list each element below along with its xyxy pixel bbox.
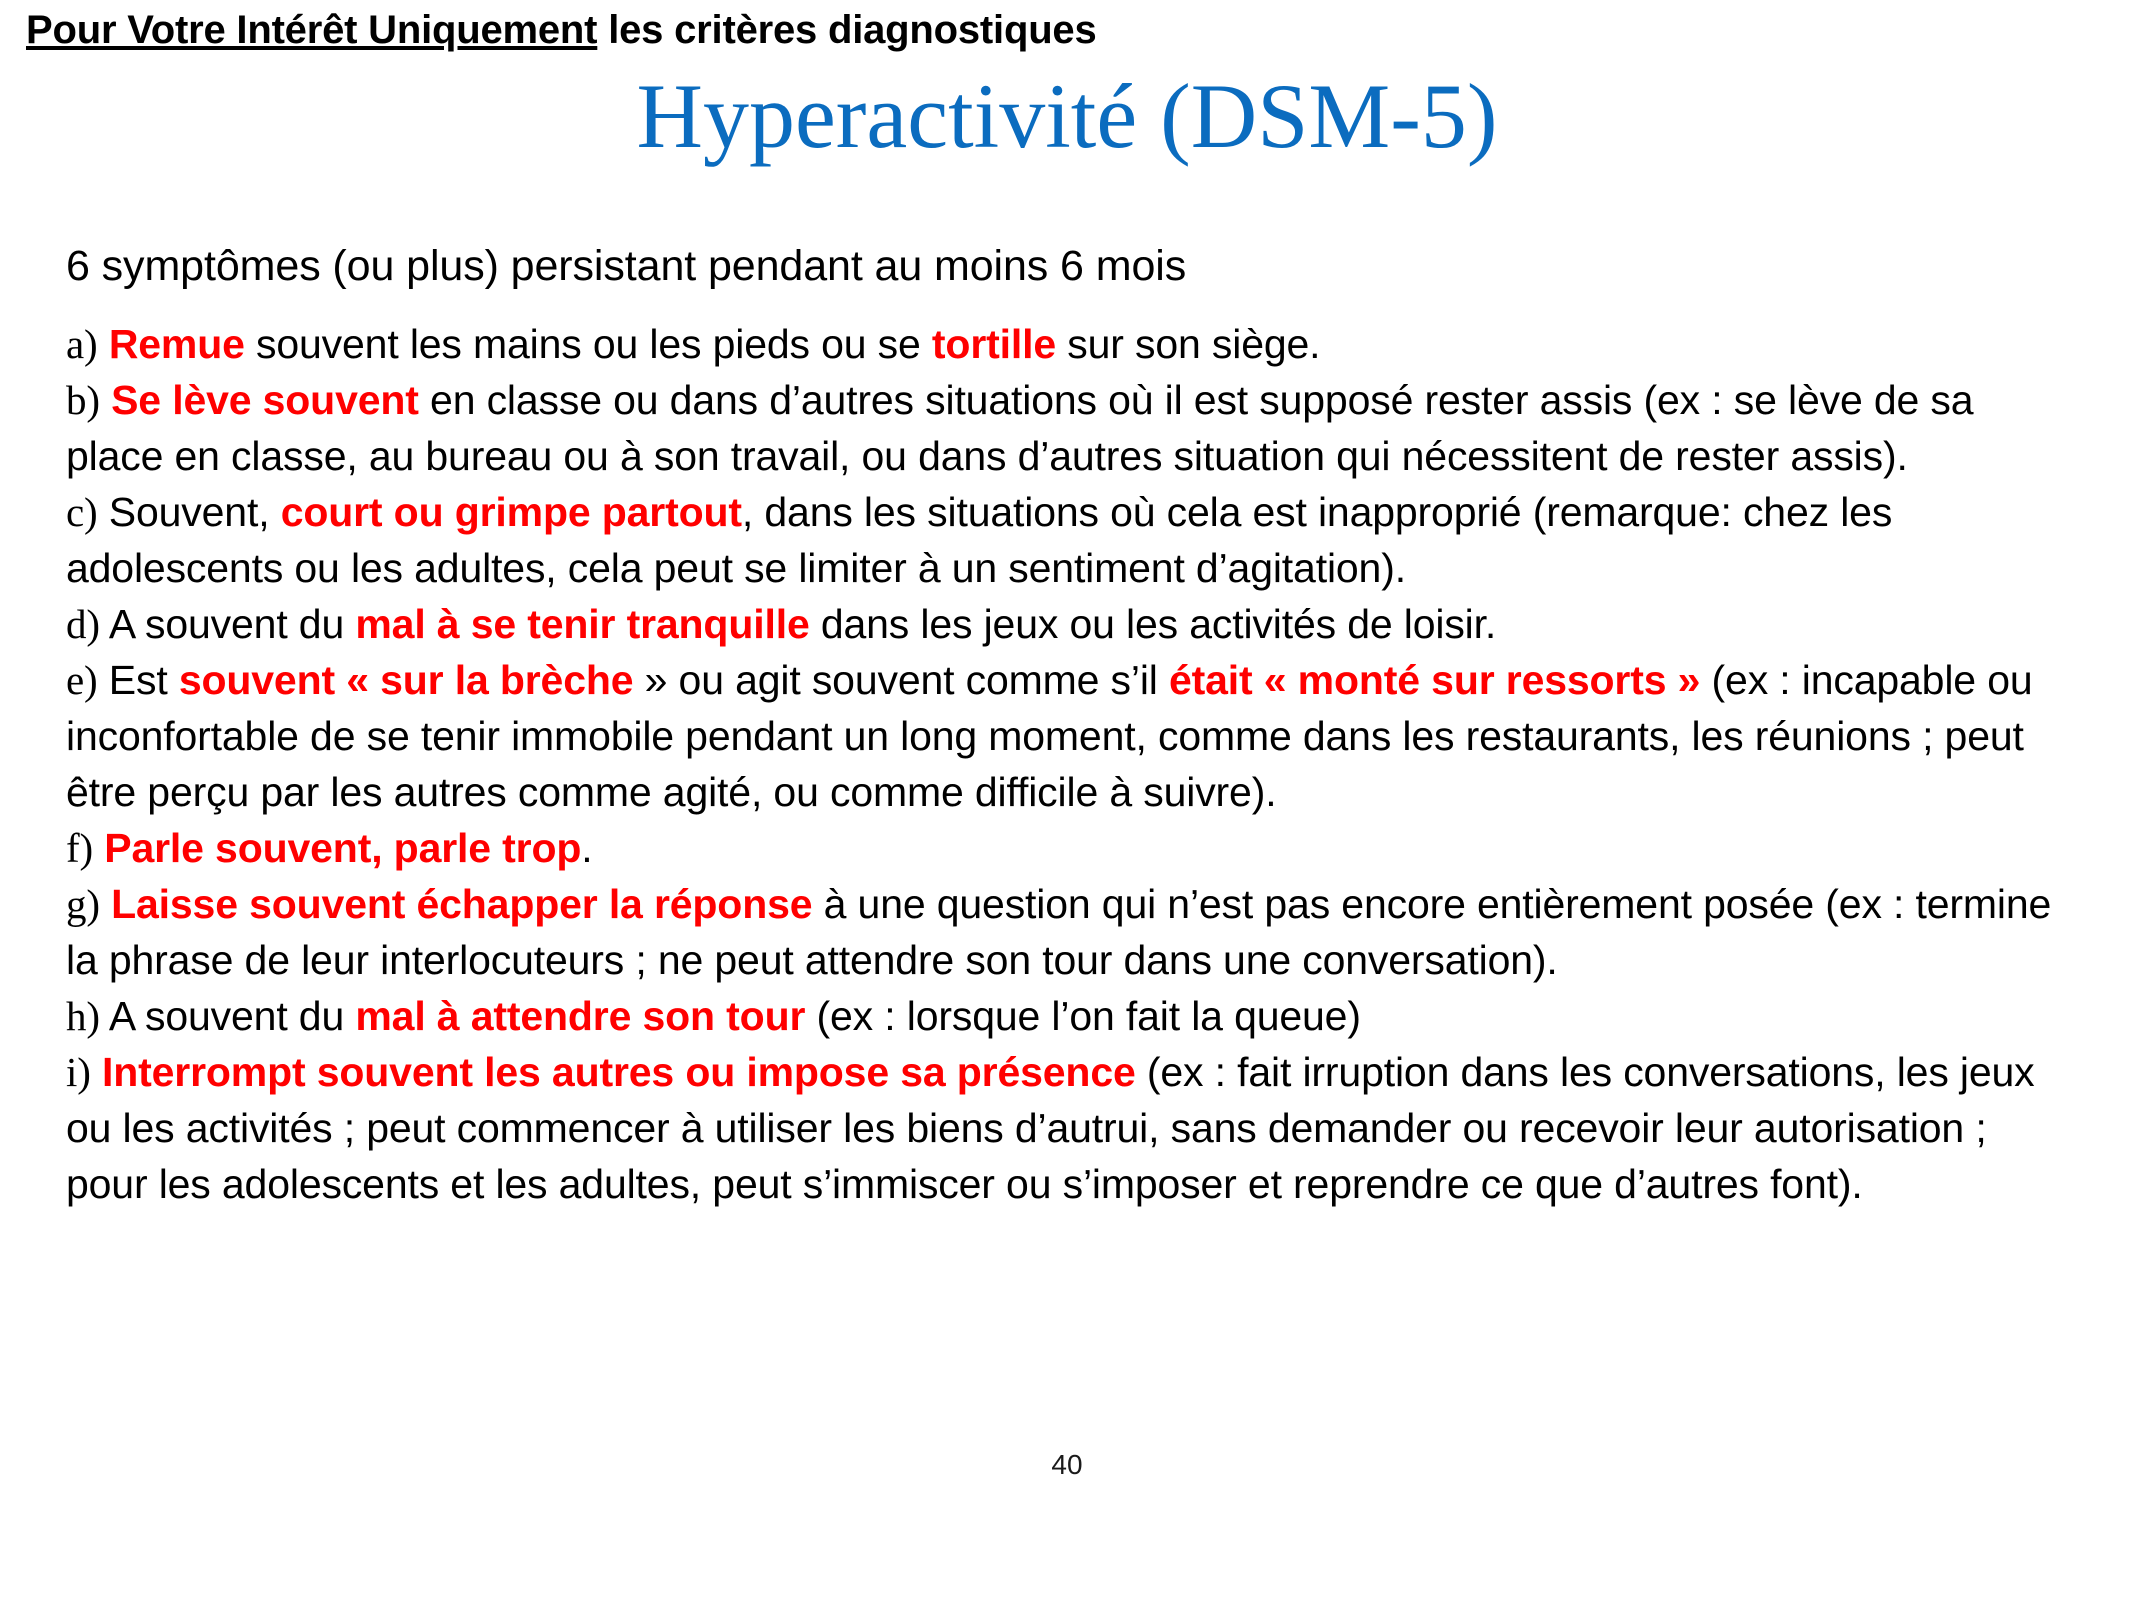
page-number: 40 [0,1448,2134,1482]
criteria-text: (ex : lorsque l’on fait la queue) [805,993,1361,1039]
criteria-text: A souvent du [100,601,356,647]
criteria-text: » ou agit souvent comme s’il [633,657,1169,703]
criteria-marker: h) [66,993,100,1039]
criteria-item: d) A souvent du mal à se tenir tranquill… [66,596,2066,652]
criteria-item: i) Interrompt souvent les autres ou impo… [66,1044,2066,1212]
criteria-marker: g) [66,881,100,927]
criteria-item: a) Remue souvent les mains ou les pieds … [66,316,2066,372]
criteria-text [100,881,111,927]
criteria-text [100,377,111,423]
criteria-marker: c) [66,489,98,535]
criteria-item: h) A souvent du mal à attendre son tour … [66,988,2066,1044]
criteria-text: dans les jeux ou les activités de loisir… [810,601,1497,647]
slide-body: 6 symptômes (ou plus) persistant pendant… [66,238,2066,1212]
criteria-highlight-text: était « monté sur ressorts » [1169,657,1700,703]
criteria-text: A souvent du [100,993,356,1039]
criteria-text: sur son siège. [1056,321,1320,367]
criteria-marker: b) [66,377,100,423]
criteria-item: e) Est souvent « sur la brèche » ou agit… [66,652,2066,820]
criteria-highlight-text: court ou grimpe partout [281,489,742,535]
criteria-item: g) Laisse souvent échapper la réponse à … [66,876,2066,988]
criteria-highlight-text: mal à se tenir tranquille [355,601,809,647]
criteria-highlight-text: Interrompt souvent les autres ou impose … [102,1049,1136,1095]
lead-paragraph: 6 symptômes (ou plus) persistant pendant… [66,238,2066,294]
criteria-highlight-text: Remue [109,321,245,367]
criteria-highlight-text: souvent « sur la brèche [179,657,634,703]
slide-kicker-heading: Pour Votre Intérêt Uniquement les critèr… [26,6,1097,54]
criteria-highlight-text: Se lève souvent [111,377,419,423]
criteria-text [93,825,104,871]
criteria-text: Souvent, [98,489,281,535]
criteria-marker: d) [66,601,100,647]
criteria-text [91,1049,102,1095]
criteria-marker: a) [66,321,98,367]
criteria-marker: f) [66,825,93,871]
criteria-text [98,321,109,367]
criteria-marker: e) [66,657,98,703]
criteria-item: f) Parle souvent, parle trop. [66,820,2066,876]
criteria-highlight-text: tortille [932,321,1056,367]
kicker-rest-text: les critères diagnostiques [597,8,1096,52]
criteria-text: . [581,825,592,871]
criteria-list: a) Remue souvent les mains ou les pieds … [66,316,2066,1212]
criteria-item: c) Souvent, court ou grimpe partout, dan… [66,484,2066,596]
criteria-text: souvent les mains ou les pieds ou se [245,321,932,367]
criteria-marker: i) [66,1049,91,1095]
criteria-highlight-text: Laisse souvent échapper la réponse [111,881,812,927]
criteria-highlight-text: Parle souvent, parle trop [104,825,581,871]
criteria-highlight-text: mal à attendre son tour [355,993,805,1039]
kicker-underlined-text: Pour Votre Intérêt Uniquement [26,8,597,52]
criteria-text: Est [98,657,179,703]
slide-canvas: Pour Votre Intérêt Uniquement les critèr… [0,0,2134,1600]
page-title: Hyperactivité (DSM-5) [0,62,2134,170]
criteria-item: b) Se lève souvent en classe ou dans d’a… [66,372,2066,484]
